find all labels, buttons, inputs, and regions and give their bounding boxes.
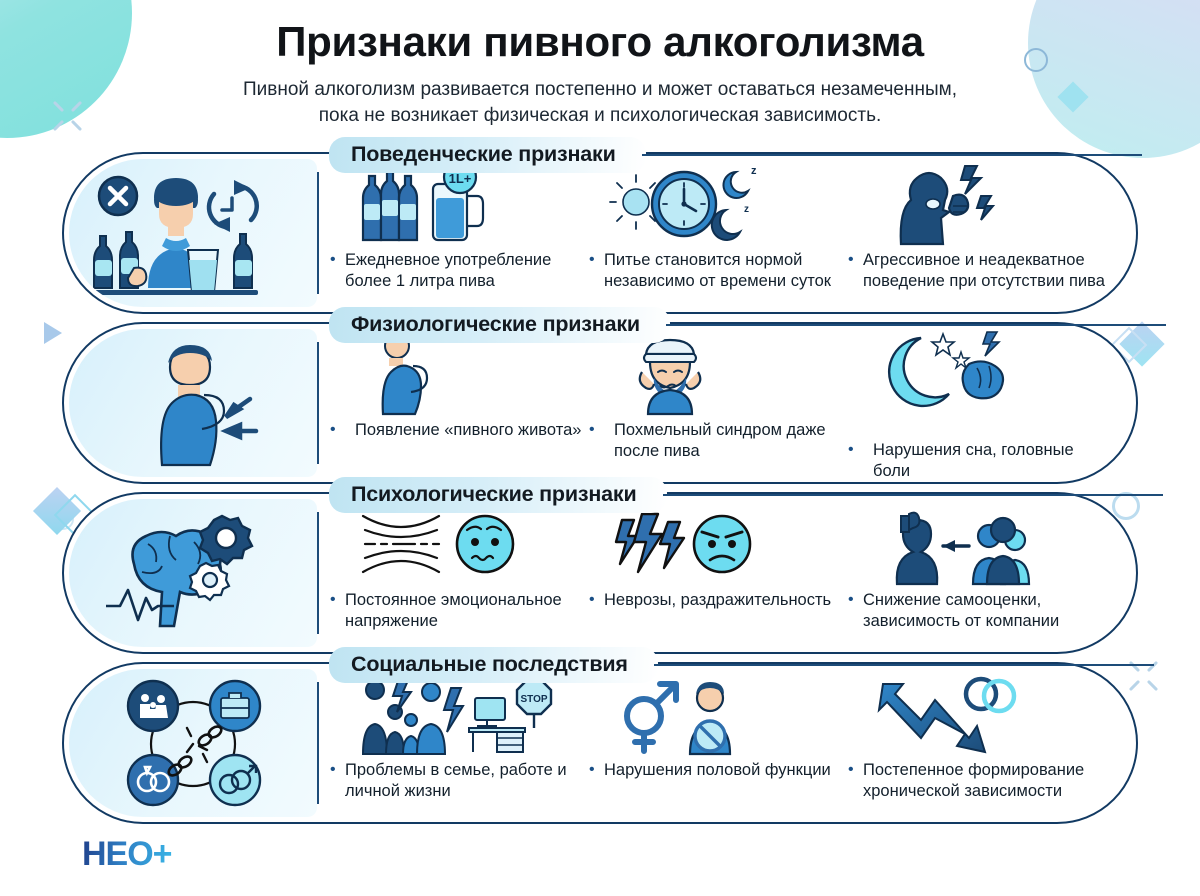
item-daily-consumption: 1L+ • Ежедневное употребление более 1 ли… bbox=[341, 160, 592, 306]
item-label: • Постоянное эмоциональное напряжение bbox=[341, 584, 592, 633]
item-label: • Агрессивное и неадекватное поведение п… bbox=[859, 244, 1110, 293]
item-emotional-tension: • Постоянное эмоциональное напряжение bbox=[341, 500, 592, 646]
section-title-physiological: Физиологические признаки bbox=[329, 307, 670, 343]
one-liter-badge-label: 1L+ bbox=[449, 171, 472, 186]
item-sleep-disorder: • Нарушения сна, головные боли bbox=[859, 330, 1110, 476]
section-card-social: Социальные последствия bbox=[62, 662, 1138, 824]
item-label: • Ежедневное употребление более 1 литра … bbox=[341, 244, 592, 293]
item-text: Нарушения сна, головные боли bbox=[873, 441, 1074, 480]
bullet-icon: • bbox=[589, 590, 595, 611]
section-header-psychological: Психологические признаки bbox=[329, 477, 1163, 513]
item-text: Постоянное эмоциональное напряжение bbox=[345, 591, 562, 630]
item-family-work-problems: STOP • Проблемы в семье, работе и личной… bbox=[341, 670, 592, 816]
section-rule bbox=[642, 154, 1142, 157]
bullet-icon: • bbox=[848, 440, 854, 461]
item-text: Похмельный синдром даже после пива bbox=[614, 421, 826, 460]
subtitle-line-2: пока не возникает физическая и психологи… bbox=[180, 103, 1020, 129]
section-card-behavioral: Поведенческие признаки bbox=[62, 152, 1138, 314]
section-rule bbox=[654, 664, 1154, 667]
item-low-self-esteem: • Снижение самооценки, зависимость от ко… bbox=[859, 500, 1110, 646]
section-title-behavioral: Поведенческие признаки bbox=[329, 137, 646, 173]
bullet-icon: • bbox=[589, 250, 595, 271]
items-physiological: • Появление «пивного живота» bbox=[319, 324, 1136, 482]
illustration-man-with-beer-bottles bbox=[69, 159, 317, 307]
item-chronic-dependence: • Постепенное формирование хронической з… bbox=[859, 670, 1110, 816]
item-label: • Неврозы, раздражительность bbox=[600, 584, 851, 611]
logo-text: НЕО+ bbox=[82, 835, 172, 874]
svg-text:z: z bbox=[744, 204, 749, 215]
bullet-icon: • bbox=[330, 590, 336, 611]
header: Признаки пивного алкоголизма Пивной алко… bbox=[0, 18, 1200, 129]
bullet-icon: • bbox=[330, 250, 336, 271]
bullet-icon: • bbox=[589, 420, 595, 441]
item-text: Снижение самооценки, зависимость от комп… bbox=[863, 591, 1059, 630]
sections-list: Поведенческие признаки bbox=[0, 152, 1200, 832]
item-text: Нарушения половой функции bbox=[604, 761, 831, 779]
item-text: Неврозы, раздражительность bbox=[604, 591, 831, 609]
infographic-page: Признаки пивного алкоголизма Пивной алко… bbox=[0, 0, 1200, 896]
section-header-behavioral: Поведенческие признаки bbox=[329, 137, 1142, 173]
section-header-physiological: Физиологические признаки bbox=[329, 307, 1166, 343]
section-title-psychological: Психологические признаки bbox=[329, 477, 667, 513]
page-title: Признаки пивного алкоголизма bbox=[0, 18, 1200, 65]
item-label: • Постепенное формирование хронической з… bbox=[859, 754, 1110, 803]
illustration-broken-chain-life-circle bbox=[69, 669, 317, 817]
items-behavioral: 1L+ • Ежедневное употребление более 1 ли… bbox=[319, 154, 1136, 312]
item-label: • Похмельный синдром даже после пива bbox=[600, 414, 851, 463]
illustration-brain-with-gears bbox=[69, 499, 317, 647]
items-social: STOP • Проблемы в семье, работе и личной… bbox=[319, 664, 1136, 822]
item-hangover: • Похмельный синдром даже после пива bbox=[600, 330, 851, 476]
section-header-social: Социальные последствия bbox=[329, 647, 1154, 683]
section-card-physiological: Физиологические признаки bbox=[62, 322, 1138, 484]
bullet-icon: • bbox=[848, 760, 854, 781]
page-subtitle: Пивной алкоголизм развивается постепенно… bbox=[180, 77, 1020, 129]
item-label: • Снижение самооценки, зависимость от ко… bbox=[859, 584, 1110, 633]
items-psychological: • Постоянное эмоциональное напряжение bbox=[319, 494, 1136, 652]
section-title-social: Социальные последствия bbox=[329, 647, 658, 683]
bullet-icon: • bbox=[330, 760, 336, 781]
item-label: • Проблемы в семье, работе и личной жизн… bbox=[341, 754, 592, 803]
item-label: • Питье становится нормой независимо от … bbox=[600, 244, 851, 293]
item-text: Появление «пивного живота» bbox=[355, 421, 581, 439]
item-neurosis: • Неврозы, раздражительность bbox=[600, 500, 851, 646]
item-text: Постепенное формирование хронической зав… bbox=[863, 761, 1084, 800]
section-rule bbox=[666, 324, 1166, 327]
item-sexual-dysfunction: • Нарушения половой функции bbox=[600, 670, 851, 816]
bullet-icon: • bbox=[848, 250, 854, 271]
item-label: • Появление «пивного живота» bbox=[341, 414, 592, 441]
item-beer-belly: • Появление «пивного живота» bbox=[341, 330, 592, 476]
section-card-psychological: Психологические признаки bbox=[62, 492, 1138, 654]
bullet-icon: • bbox=[330, 420, 336, 441]
item-text: Ежедневное употребление более 1 литра пи… bbox=[345, 251, 551, 290]
subtitle-line-1: Пивной алкоголизм развивается постепенно… bbox=[180, 77, 1020, 103]
bullet-icon: • bbox=[589, 760, 595, 781]
illustration-man-with-beer-belly bbox=[69, 329, 317, 477]
brand-logo: НЕО+ bbox=[82, 835, 172, 874]
item-aggressive-behavior: • Агрессивное и неадекватное поведение п… bbox=[859, 160, 1110, 306]
svg-text:STOP: STOP bbox=[520, 694, 547, 705]
item-drinking-any-time: z z • Питье становится нормой независимо… bbox=[600, 160, 851, 306]
section-rule bbox=[663, 494, 1163, 497]
item-text: Проблемы в семье, работе и личной жизни bbox=[345, 761, 567, 800]
item-label: • Нарушения половой функции bbox=[600, 754, 851, 781]
item-label: • Нарушения сна, головные боли bbox=[859, 412, 1110, 483]
bullet-icon: • bbox=[848, 590, 854, 611]
item-text: Агрессивное и неадекватное поведение при… bbox=[863, 251, 1105, 290]
item-text: Питье становится нормой независимо от вр… bbox=[604, 251, 831, 290]
